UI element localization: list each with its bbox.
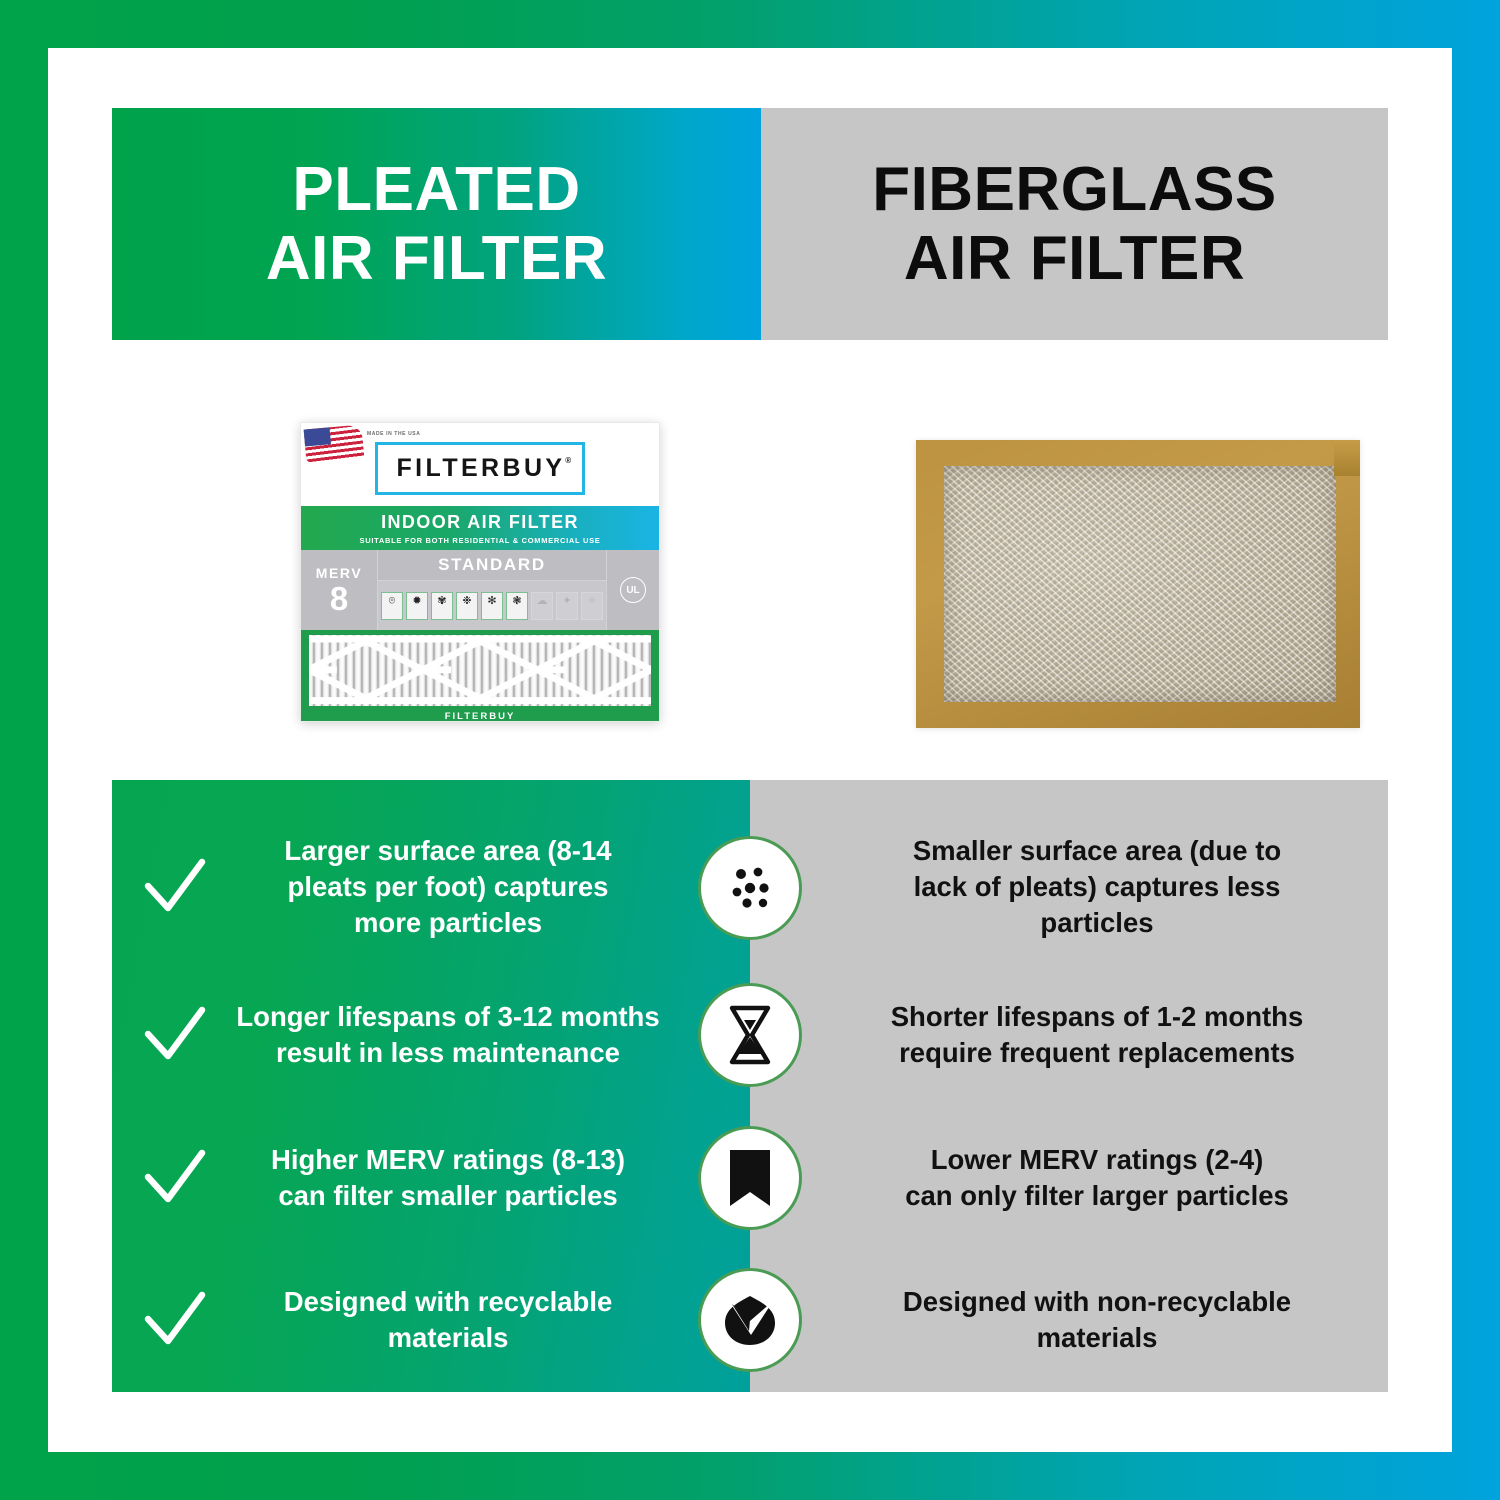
comparison-row-right: Shorter lifespans of 1-2 months require … (750, 999, 1388, 1072)
pollen-icon: ✾ (431, 592, 453, 620)
package-spec-section: MERV 8 STANDARD ⌾ ✹ ✾ ❉ ✻ ❃ ☁ (301, 550, 659, 630)
comparison-rows: Larger surface area (8-14 pleats per foo… (112, 780, 1388, 1392)
made-in-usa-label: MADE IN THE USA (367, 431, 420, 439)
checkmark-icon (132, 1291, 218, 1349)
content-canvas: PLEATED AIR FILTER FIBERGLASS AIR FILTER… (48, 48, 1452, 1452)
frame-corner-tab (1334, 440, 1360, 476)
filterbuy-logo-text: FILTERBUY® (396, 454, 565, 483)
checkmark-icon (132, 1006, 218, 1064)
comparison-row-left: Longer lifespans of 3-12 months result i… (112, 999, 750, 1072)
comparison-row-left: Higher MERV ratings (8-13) can filter sm… (112, 1142, 750, 1215)
package-footer-brand: FILTERBUY (301, 711, 659, 722)
odor-icon: ✧ (581, 592, 603, 620)
header-fiberglass-title: FIBERGLASS AIR FILTER (872, 155, 1277, 294)
comparison-row-left: Designed with recyclable materials (112, 1284, 750, 1357)
checkmark-icon (132, 1149, 218, 1207)
checkmark-icon (132, 858, 218, 916)
leaf-icon (698, 1268, 802, 1372)
merv-badge: MERV 8 (301, 550, 378, 630)
comparison-text-right: Smaller surface area (due to lack of ple… (827, 833, 1311, 942)
fiberglass-filter-product-image (916, 440, 1360, 728)
merv-value: 8 (330, 582, 348, 615)
comparison-row-right: Smaller surface area (due to lack of ple… (750, 833, 1388, 942)
virus-icon: ✦ (556, 592, 578, 620)
pet-dander-icon: ❃ (506, 592, 528, 620)
comparison-text-left: Designed with recyclable materials (218, 1284, 730, 1357)
comparison-text-left: Longer lifespans of 3-12 months result i… (218, 999, 730, 1072)
package-rating-icons: ⌾ ✹ ✾ ❉ ✻ ❃ ☁ ✦ ✧ (378, 581, 606, 630)
package-top-section: MADE IN THE USA FILTERBUY® (301, 423, 659, 506)
package-grade-column: STANDARD ⌾ ✹ ✾ ❉ ✻ ❃ ☁ ✦ ✧ (378, 550, 606, 630)
comparison-text-left: Higher MERV ratings (8-13) can filter sm… (218, 1142, 730, 1215)
ul-certification-icon: UL (620, 577, 646, 603)
particles-icon (698, 836, 802, 940)
hourglass-icon (698, 983, 802, 1087)
mold-icon: ❉ (456, 592, 478, 620)
package-band-subtitle: SUITABLE FOR BOTH RESIDENTIAL & COMMERCI… (360, 536, 601, 545)
gradient-border-frame: PLEATED AIR FILTER FIBERGLASS AIR FILTER… (0, 0, 1500, 1500)
comparison-section: Larger surface area (8-14 pleats per foo… (112, 780, 1388, 1392)
comparison-row-left: Larger surface area (8-14 pleats per foo… (112, 833, 750, 942)
header-pleated-title: PLEATED AIR FILTER (266, 155, 607, 294)
usa-flag-icon (304, 425, 365, 464)
comparison-row-right: Lower MERV ratings (2-4) can only filter… (750, 1142, 1388, 1215)
comparison-row-right: Designed with non-recyclable materials (750, 1284, 1388, 1357)
comparison-text-right: Designed with non-recyclable materials (817, 1284, 1321, 1357)
smoke-icon: ☁ (531, 592, 553, 620)
header-fiberglass: FIBERGLASS AIR FILTER (761, 108, 1388, 340)
header-row: PLEATED AIR FILTER FIBERGLASS AIR FILTER (112, 108, 1388, 340)
comparison-text-right: Lower MERV ratings (2-4) can only filter… (819, 1142, 1319, 1215)
header-pleated: PLEATED AIR FILTER (112, 108, 761, 340)
comparison-text-right: Shorter lifespans of 1-2 months require … (805, 999, 1334, 1072)
comparison-text-left: Larger surface area (8-14 pleats per foo… (218, 833, 730, 942)
bookmark-icon (698, 1126, 802, 1230)
package-band-title: INDOOR AIR FILTER (381, 512, 579, 533)
pleated-media-view: FILTERBUY (301, 630, 659, 722)
fiberglass-media-texture (944, 466, 1336, 702)
filterbuy-logo: FILTERBUY® (375, 442, 584, 495)
merv-label: MERV (316, 565, 363, 581)
pleated-filter-product-image: MADE IN THE USA FILTERBUY® INDOOR AIR FI… (300, 422, 660, 722)
package-band: INDOOR AIR FILTER SUITABLE FOR BOTH RESI… (301, 506, 659, 550)
ul-certification-area: UL (606, 550, 659, 630)
dust-mites-icon: ✹ (406, 592, 428, 620)
product-image-row: MADE IN THE USA FILTERBUY® INDOOR AIR FI… (112, 340, 1388, 780)
package-grade-label: STANDARD (378, 550, 606, 581)
bacteria-icon: ✻ (481, 592, 503, 620)
support-grid-icon (309, 635, 651, 706)
dust-lint-icon: ⌾ (381, 592, 403, 620)
